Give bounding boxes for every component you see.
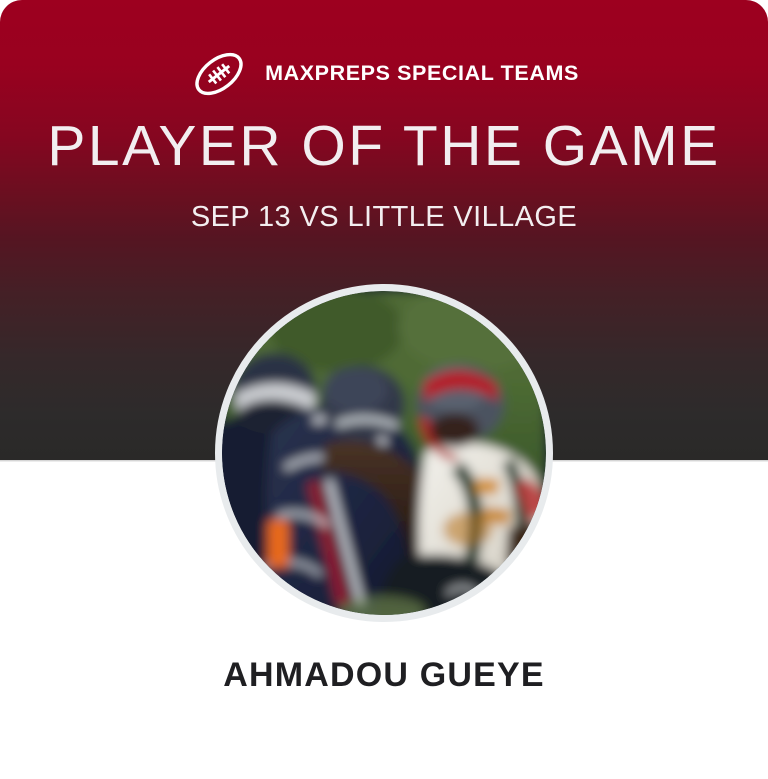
player-name: AHMADOU GUEYE (0, 655, 768, 696)
game-subtitle: SEP 13 VS LITTLE VILLAGE (0, 200, 768, 235)
page-title: PLAYER OF THE GAME (0, 114, 768, 180)
brand-lockup: MAXPREPS SPECIAL TEAMS (0, 44, 768, 104)
player-of-the-game-card: MAXPREPS SPECIAL TEAMS PLAYER OF THE GAM… (0, 0, 768, 779)
football-icon (189, 44, 249, 104)
player-photo (222, 291, 546, 615)
player-avatar (215, 284, 553, 622)
brand-label: MAXPREPS SPECIAL TEAMS (265, 63, 579, 85)
